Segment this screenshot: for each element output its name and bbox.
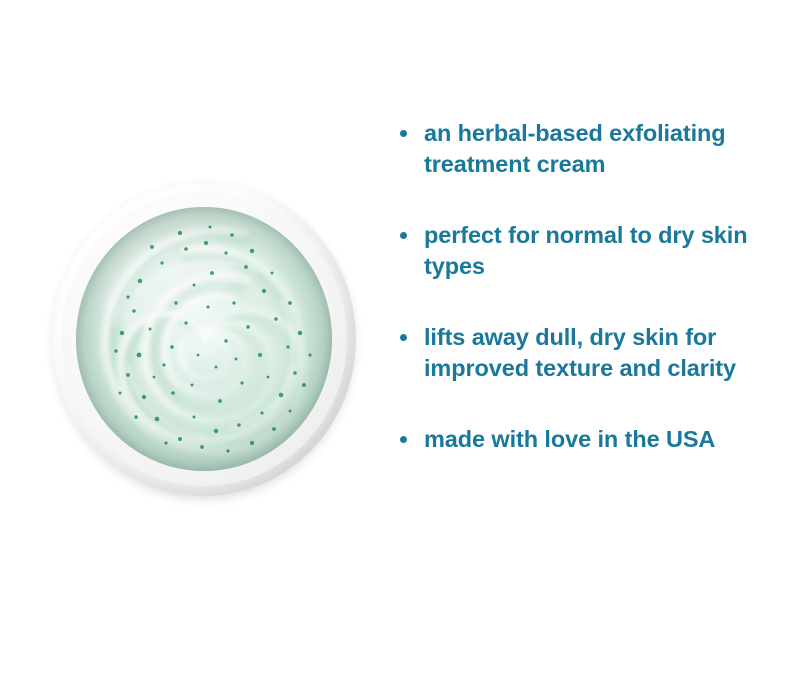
benefit-item: perfect for normal to dry skin types (396, 220, 800, 282)
bullet-point-icon (400, 334, 407, 341)
bullet-point-icon (400, 232, 407, 239)
bullet-point-icon (400, 130, 407, 137)
bullet-point-icon (400, 436, 407, 443)
cream-surface (76, 207, 332, 471)
benefit-text: lifts away dull, dry skin for improved t… (424, 322, 800, 384)
benefit-text: made with love in the USA (424, 424, 800, 455)
product-image (48, 178, 360, 500)
benefit-item: an herbal-based exfoliating treatment cr… (396, 118, 800, 180)
benefit-item: made with love in the USA (396, 424, 800, 455)
benefit-item: lifts away dull, dry skin for improved t… (396, 322, 800, 384)
benefit-text: perfect for normal to dry skin types (424, 220, 800, 282)
product-benefits-list: an herbal-based exfoliating treatment cr… (396, 118, 800, 455)
benefit-text: an herbal-based exfoliating treatment cr… (424, 118, 800, 180)
cream-swirl-graphic (76, 207, 332, 471)
